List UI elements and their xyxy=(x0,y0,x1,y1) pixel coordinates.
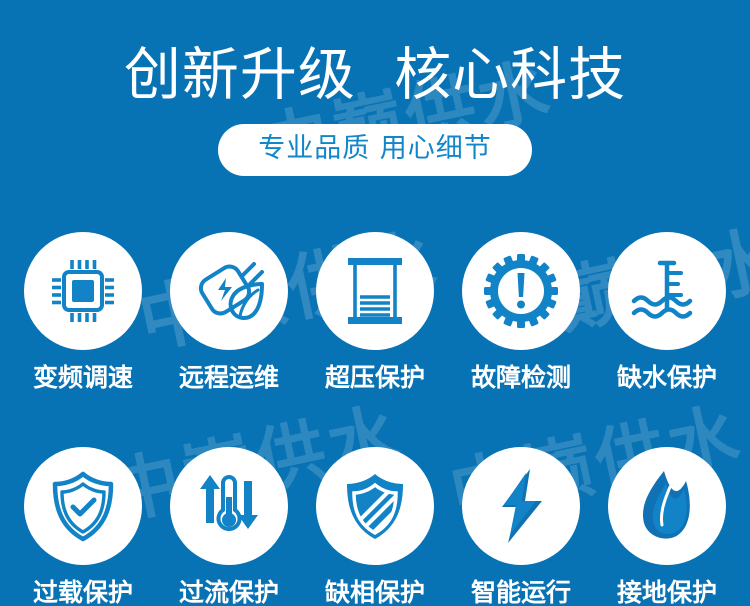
subtitle-pill-wrap: 专业品质 用心细节 xyxy=(0,124,750,176)
feature-row: 变频调速 xyxy=(0,232,750,393)
icon-circle xyxy=(24,447,142,565)
feature-label: 缺相保护 xyxy=(325,578,425,606)
feature-item-chaoya-baohu[interactable]: 超压保护 xyxy=(310,232,440,393)
press-machine-icon xyxy=(340,254,410,328)
feature-item-yuancheng-yunwei[interactable]: 远程运维 xyxy=(164,232,294,393)
feature-item-guoliu-baohu[interactable]: 过流保护 xyxy=(164,447,294,606)
gear-alert-icon xyxy=(484,254,558,328)
feature-item-jiedi-baohu[interactable]: 接地保护 xyxy=(602,447,732,606)
lightning-bolt-icon xyxy=(486,467,556,545)
feature-label: 智能运行 xyxy=(471,578,571,606)
feature-item-bianpin-tiaosu[interactable]: 变频调速 xyxy=(18,232,148,393)
icon-circle xyxy=(316,232,434,350)
icon-circle xyxy=(316,447,434,565)
feature-label: 变频调速 xyxy=(33,363,133,393)
feature-label: 缺水保护 xyxy=(617,363,717,393)
thermometer-arrows-icon xyxy=(192,469,266,543)
feature-label: 过流保护 xyxy=(179,578,279,606)
feature-label: 故障检测 xyxy=(471,363,571,393)
feature-label: 超压保护 xyxy=(325,363,425,393)
subtitle-pill: 专业品质 用心细节 xyxy=(218,124,532,176)
icon-circle xyxy=(170,232,288,350)
feature-label: 接地保护 xyxy=(617,578,717,606)
feature-label: 远程运维 xyxy=(179,363,279,393)
feature-item-guzhang-jiance[interactable]: 故障检测 xyxy=(456,232,586,393)
feature-item-queshui-baohu[interactable]: 缺水保护 xyxy=(602,232,732,393)
water-level-gauge-icon xyxy=(628,256,706,326)
plug-leaf-icon xyxy=(192,254,266,328)
icon-circle xyxy=(170,447,288,565)
promo-banner: 中巅供水 中巅供水 中巅供水 中巅供水 中巅供水 创新升级 核心科技 专业品质 … xyxy=(0,0,750,606)
feature-grid: 变频调速 xyxy=(0,232,750,606)
icon-circle xyxy=(608,447,726,565)
leaf-flame-icon xyxy=(630,467,704,545)
cpu-chip-icon xyxy=(48,256,118,326)
icon-circle xyxy=(608,232,726,350)
shield-check-icon xyxy=(47,469,119,543)
icon-circle xyxy=(462,232,580,350)
icon-circle xyxy=(24,232,142,350)
icon-circle xyxy=(462,447,580,565)
banner-header: 创新升级 核心科技 专业品质 用心细节 xyxy=(0,0,750,176)
feature-item-zhineng-yunxing[interactable]: 智能运行 xyxy=(456,447,586,606)
shield-striped-icon xyxy=(339,469,411,543)
feature-row: 过载保护 xyxy=(0,447,750,606)
page-title: 创新升级 核心科技 xyxy=(0,40,750,110)
feature-item-quexiang-baohu[interactable]: 缺相保护 xyxy=(310,447,440,606)
feature-item-guozai-baohu[interactable]: 过载保护 xyxy=(18,447,148,606)
feature-label: 过载保护 xyxy=(33,578,133,606)
